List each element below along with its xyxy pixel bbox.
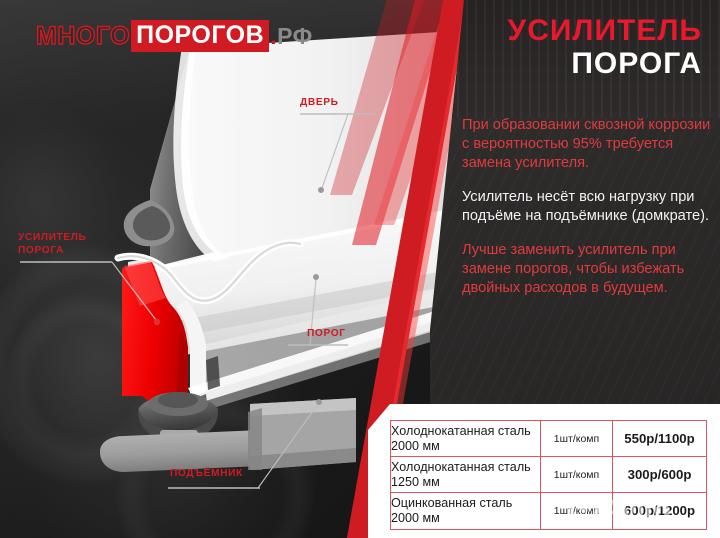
paragraph-load: Усилитель несёт всю нагрузку при подъёме… xyxy=(462,188,714,226)
callout-door: ДВЕРЬ xyxy=(300,97,380,110)
title-line-1: УСИЛИТЕЛЬ xyxy=(442,16,702,47)
row-1-qty: 1шт/комп xyxy=(541,457,613,493)
site-logo[interactable]: МНОГО ПОРОГОВ .РФ xyxy=(36,20,313,52)
logo-text-mnogo: МНОГО xyxy=(36,22,130,51)
callout-sill-label: ПОРОГ xyxy=(307,328,367,341)
row-0-price: 550р/1100р xyxy=(613,421,707,457)
row-1-price: 300р/600р xyxy=(613,457,707,493)
description-block: При образовании сквозной коррозии с веро… xyxy=(462,116,714,313)
logo-text-porogov: ПОРОГОВ xyxy=(131,20,269,52)
logo-domain: .РФ xyxy=(270,23,313,50)
table-row: Холоднокатанная сталь 2000 мм 1шт/комп 5… xyxy=(391,421,707,457)
lift-puck-inner xyxy=(158,392,198,408)
table-row: Холоднокатанная сталь 1250 мм 1шт/комп 3… xyxy=(391,457,707,493)
price-table-card: Холоднокатанная сталь 2000 мм 1шт/комп 5… xyxy=(368,404,720,538)
title-line-2: ПОРОГА xyxy=(442,49,702,80)
price-table: Холоднокатанная сталь 2000 мм 1шт/комп 5… xyxy=(390,420,707,530)
lift-arm-pad xyxy=(100,430,260,472)
row-1-name: Холоднокатанная сталь 1250 мм xyxy=(391,457,541,493)
page-title: УСИЛИТЕЛЬ ПОРОГА xyxy=(442,16,702,79)
table-row: Оцинкованная сталь 2000 мм 1шт/комп 600р… xyxy=(391,493,707,529)
callout-reinforcement: УСИЛИТЕЛЬ ПОРОГА xyxy=(18,232,138,258)
pinch-weld-notch xyxy=(206,356,220,390)
lift-arm-joint xyxy=(248,408,262,470)
callout-door-label: ДВЕРЬ xyxy=(300,97,380,110)
row-2-qty: 1шт/комп xyxy=(541,493,613,529)
row-2-price: 600р/1200р xyxy=(613,493,707,529)
logo-tld: РФ xyxy=(277,23,313,49)
row-0-qty: 1шт/комп xyxy=(541,421,613,457)
paragraph-advice: Лучше заменить усилитель при замене поро… xyxy=(462,241,714,298)
callout-sill: ПОРОГ xyxy=(307,328,367,341)
price-table-body: Холоднокатанная сталь 2000 мм 1шт/комп 5… xyxy=(391,421,707,530)
promo-banner: УСИЛИТЕЛЬ ПОРОГА При образовании сквозно… xyxy=(0,0,720,538)
row-0-name: Холоднокатанная сталь 2000 мм xyxy=(391,421,541,457)
callout-reinforcement-label: УСИЛИТЕЛЬ ПОРОГА xyxy=(18,232,138,258)
row-2-name: Оцинкованная сталь 2000 мм xyxy=(391,493,541,529)
callout-lift-label: ПОДЪЁМНИК xyxy=(170,468,266,481)
callout-lift: ПОДЪЁМНИК xyxy=(170,468,266,481)
paragraph-corrosion: При образовании сквозной коррозии с веро… xyxy=(462,116,714,173)
